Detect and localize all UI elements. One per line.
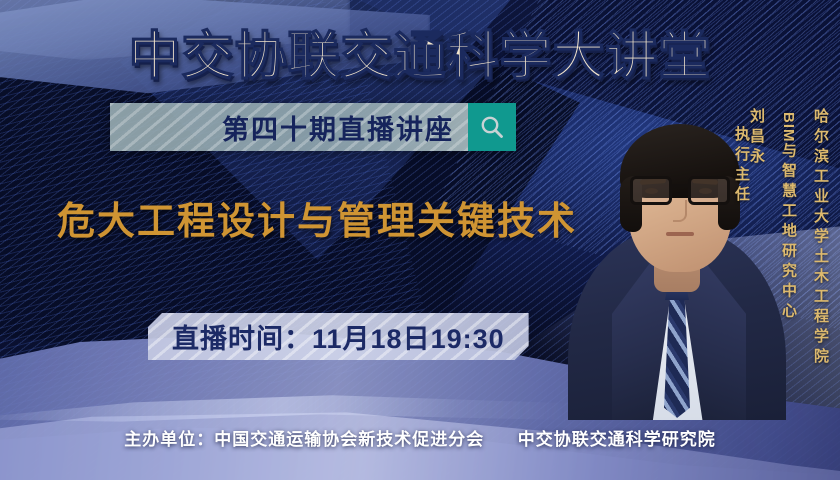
speaker-center-rest: 与智慧工地研究中心	[780, 143, 797, 323]
portrait-mouth	[666, 232, 694, 236]
speaker-name: 刘昌永	[748, 108, 765, 168]
organizer-line: 主办单位：中国交通运输协会新技术促进分会 中交协联交通科学研究院	[0, 425, 840, 450]
speaker-center-latin: BIM	[780, 112, 797, 143]
glasses-lens-right	[688, 176, 730, 205]
speaker-name-block: 刘昌永 执行主任	[734, 108, 764, 206]
page-title: 中交协联交通科学大讲堂	[0, 14, 840, 89]
live-lecture-poster: 中交协联交通科学大讲堂 第四十期直播讲座 危大工程设计与管理关键技术 直播时间：…	[0, 0, 840, 480]
session-label: 第四十期直播讲座	[222, 108, 454, 147]
glasses-bridge	[672, 184, 688, 187]
portrait-nose	[673, 200, 687, 222]
lecture-headline: 危大工程设计与管理关键技术	[57, 190, 577, 245]
speaker-research-center: BIM与智慧工地研究中心	[781, 112, 796, 323]
live-time-text: 直播时间：11月18日19:30	[172, 317, 505, 356]
speaker-role: 执行主任	[734, 126, 749, 206]
session-bar: 第四十期直播讲座	[110, 103, 516, 151]
session-plate: 第四十期直播讲座	[110, 103, 468, 151]
speaker-affiliation: 哈尔滨工业大学土木工程学院	[813, 108, 828, 368]
search-button[interactable]	[468, 103, 516, 151]
glasses-lens-left	[630, 176, 672, 205]
live-time-badge: 直播时间：11月18日19:30	[148, 313, 529, 360]
organizer-primary: 主办单位：中国交通运输协会新技术促进分会	[124, 430, 484, 449]
search-icon	[479, 114, 505, 140]
organizer-secondary: 中交协联交通科学研究院	[518, 430, 716, 449]
